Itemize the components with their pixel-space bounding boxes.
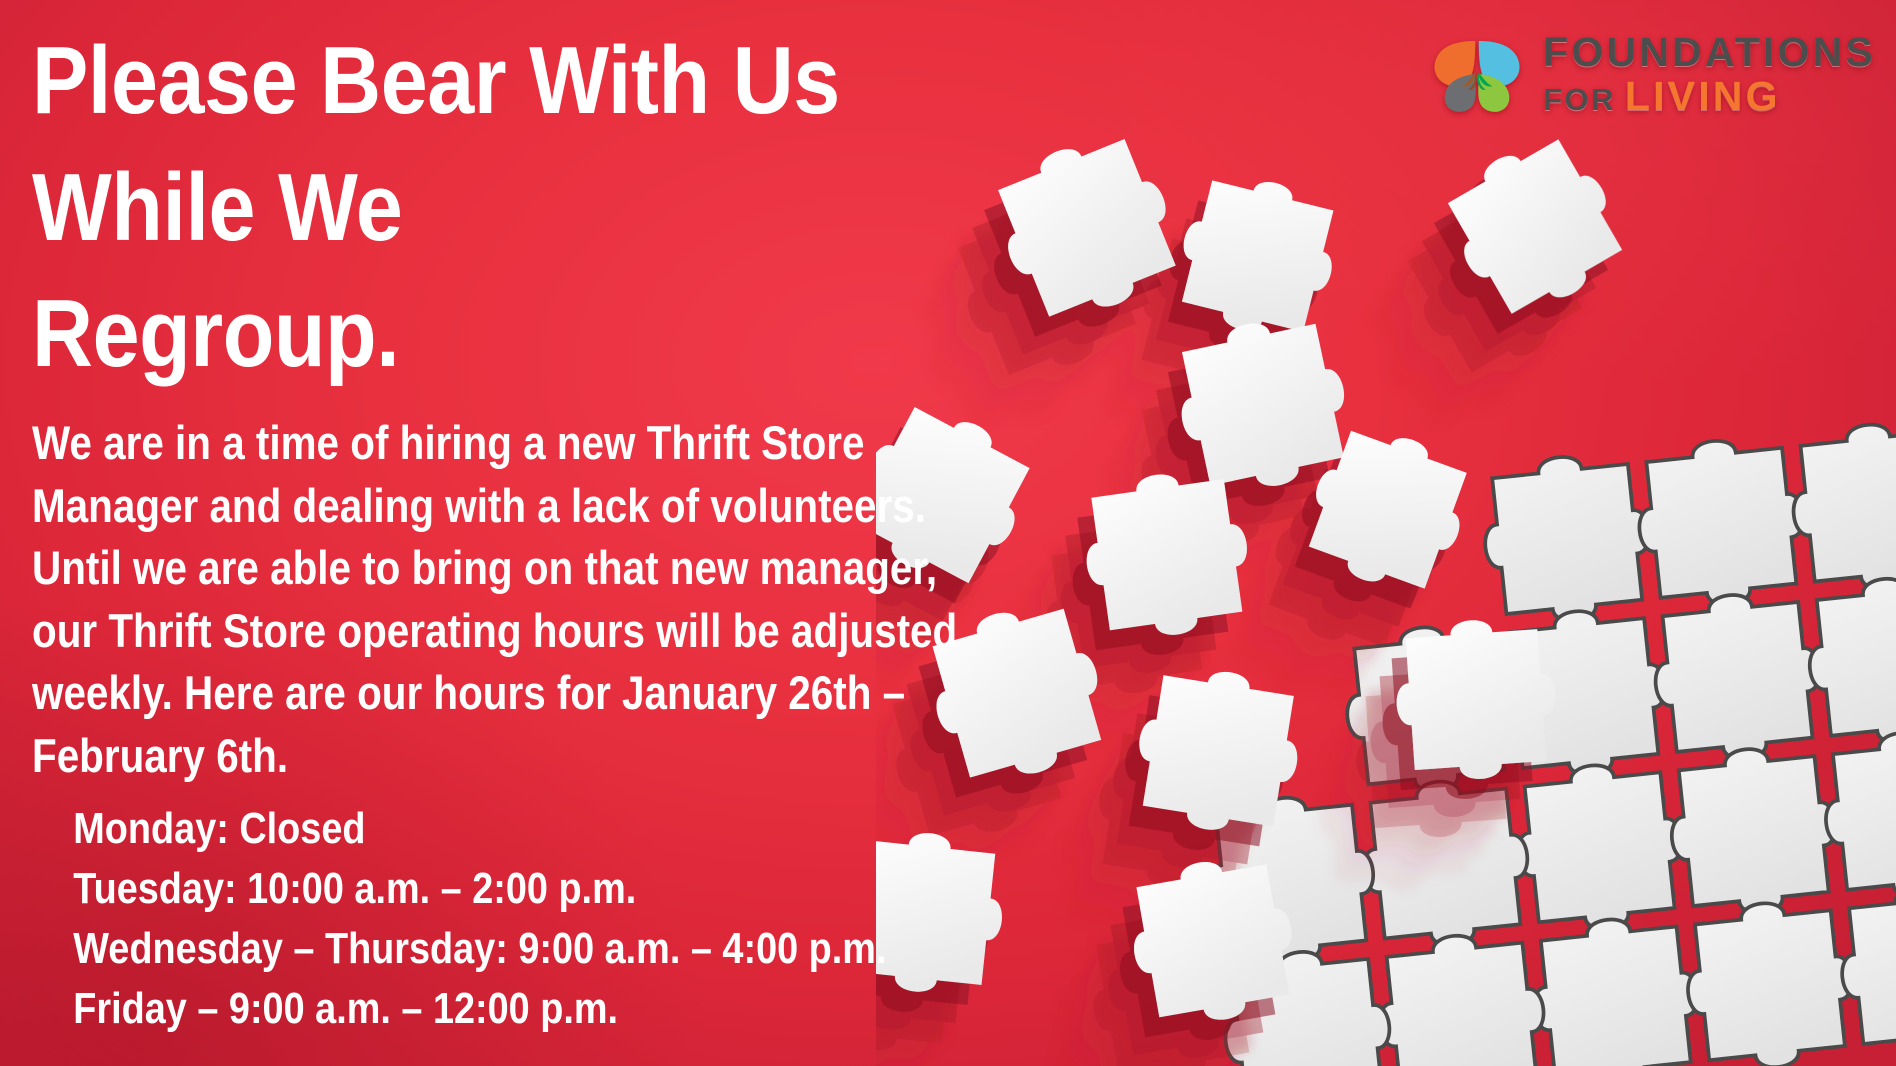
body-paragraph: We are in a time of hiring a new Thrift … [32,412,987,787]
logo-word-for: FOR [1543,84,1616,115]
list-item: Monday: Closed [73,799,1038,859]
list-item: Tuesday: 10:00 a.m. – 2:00 p.m. [73,859,1038,919]
list-item: Friday – 9:00 a.m. – 12:00 p.m. [73,979,1038,1039]
store-hours-list: Monday: Closed Tuesday: 10:00 a.m. – 2:0… [32,799,1038,1038]
logo-wordmark: FOUNDATIONS FOR LIVING [1543,32,1876,117]
foundations-for-living-logo[interactable]: FOUNDATIONS FOR LIVING [1425,22,1876,126]
logo-line-for-living: FOR LIVING [1543,76,1876,117]
banner-text-column: Please Bear With Us While We Regroup. We… [32,18,1202,1038]
promo-banner: Please Bear With Us While We Regroup. We… [0,0,1896,1066]
logo-line-foundations: FOUNDATIONS [1543,32,1876,73]
butterfly-logo-icon [1425,22,1529,126]
list-item: Wednesday – Thursday: 9:00 a.m. – 4:00 p… [73,919,1038,979]
page-title: Please Bear With Us While We Regroup. [32,18,1062,398]
logo-word-living: LIVING [1625,76,1781,117]
